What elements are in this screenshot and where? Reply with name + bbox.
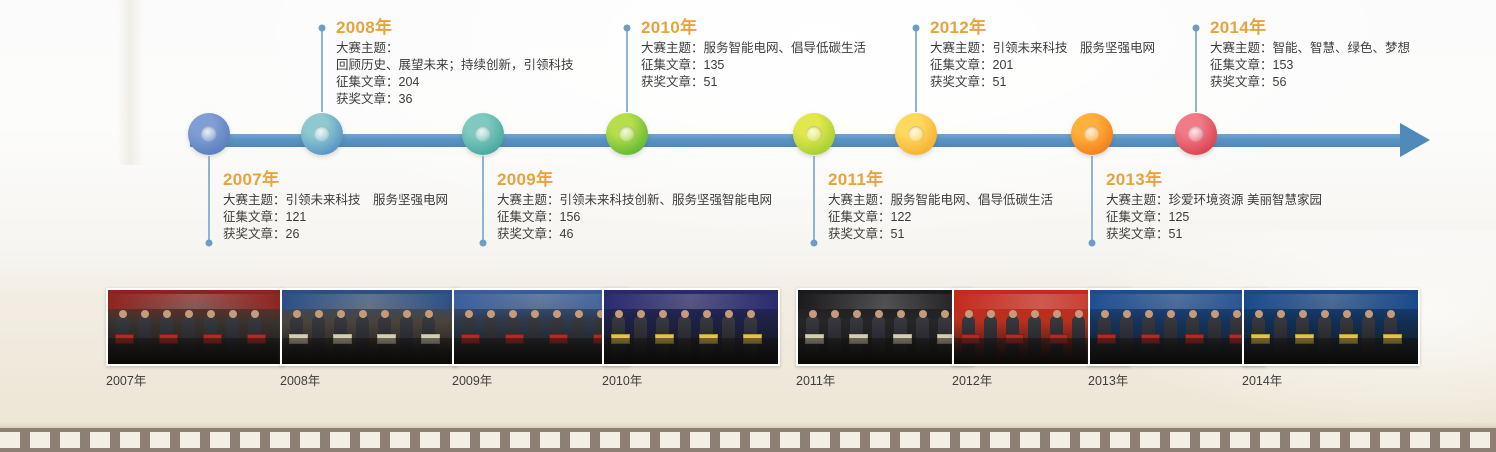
photo-banner <box>1090 294 1264 309</box>
gallery-item[interactable]: 2013年 <box>1088 288 1266 389</box>
timeline-connector-dot <box>811 240 818 247</box>
entry-year: 2009年 <box>497 170 772 190</box>
entry-year: 2010年 <box>641 18 866 38</box>
timeline-node-hole <box>619 126 635 142</box>
timeline-node-2009[interactable] <box>462 113 504 155</box>
photo-banner <box>108 294 282 309</box>
timeline-connector-line <box>1195 28 1197 112</box>
timeline-connector-dot <box>319 25 326 32</box>
photo-foreground <box>604 338 778 364</box>
entry-year: 2013年 <box>1106 170 1322 190</box>
timeline-node-2014[interactable] <box>1175 113 1217 155</box>
entry-submitted-label: 征集文章：125 <box>1106 209 1322 226</box>
entry-submitted-label: 征集文章：135 <box>641 57 866 74</box>
gallery-caption: 2013年 <box>1088 374 1266 389</box>
photo-banner <box>798 294 972 309</box>
infographic-canvas: 2007年大赛主题：引领未来科技 服务坚强电网征集文章：121获奖文章：2620… <box>0 0 1496 452</box>
timeline-node-hole <box>1188 126 1204 142</box>
entry-awarded-label: 获奖文章：56 <box>1210 74 1410 91</box>
entry-theme-label: 大赛主题：引领未来科技 服务坚强电网 <box>930 40 1155 57</box>
gallery-photo[interactable] <box>106 288 284 366</box>
timeline-entry-2013: 2013年大赛主题：珍爱环境资源 美丽智慧家园征集文章：125获奖文章：51 <box>1106 170 1322 243</box>
timeline-node-hole <box>908 126 924 142</box>
entry-submitted-label: 征集文章：201 <box>930 57 1155 74</box>
entry-theme-label-2: 回顾历史、展望未来；持续创新，引领科技 <box>336 57 574 74</box>
entry-theme-label: 大赛主题：珍爱环境资源 美丽智慧家园 <box>1106 192 1322 209</box>
entry-submitted-label: 征集文章：156 <box>497 209 772 226</box>
photo-foreground <box>798 338 972 364</box>
timeline-node-2007[interactable] <box>188 113 230 155</box>
entry-awarded-label: 获奖文章：36 <box>336 91 574 108</box>
gallery-item[interactable]: 2011年 <box>796 288 974 389</box>
timeline-connector-dot <box>206 240 213 247</box>
entry-awarded-label: 获奖文章：51 <box>828 226 1053 243</box>
entry-awarded-label: 获奖文章：46 <box>497 226 772 243</box>
timeline-connector-dot <box>624 25 631 32</box>
timeline-arrow-icon <box>1400 123 1430 157</box>
timeline-connector-line <box>321 28 323 112</box>
photo-banner <box>604 294 778 309</box>
timeline-entry-2007: 2007年大赛主题：引领未来科技 服务坚强电网征集文章：121获奖文章：26 <box>223 170 448 243</box>
gallery-caption: 2008年 <box>280 374 458 389</box>
timeline-node-2011[interactable] <box>793 113 835 155</box>
timeline-node-2008[interactable] <box>301 113 343 155</box>
gallery-caption: 2010年 <box>602 374 780 389</box>
timeline-entry-2014: 2014年大赛主题：智能、智慧、绿色、梦想征集文章：153获奖文章：56 <box>1210 18 1410 91</box>
timeline-node-hole <box>806 126 822 142</box>
gallery-item[interactable]: 2010年 <box>602 288 780 389</box>
timeline-connector-dot <box>1193 25 1200 32</box>
gallery-photo[interactable] <box>1242 288 1420 366</box>
entry-year: 2014年 <box>1210 18 1410 38</box>
photo-foreground <box>1244 338 1418 364</box>
entry-submitted-label: 征集文章：122 <box>828 209 1053 226</box>
timeline-node-2013[interactable] <box>1071 113 1113 155</box>
photo-foreground <box>282 338 456 364</box>
entry-submitted-label: 征集文章：153 <box>1210 57 1410 74</box>
timeline-node-2012[interactable] <box>895 113 937 155</box>
gallery-photo[interactable] <box>796 288 974 366</box>
timeline-connector-dot <box>1089 240 1096 247</box>
timeline-entry-2008: 2008年大赛主题：回顾历史、展望未来；持续创新，引领科技征集文章：204获奖文… <box>336 18 574 108</box>
timeline-node-hole <box>1084 126 1100 142</box>
timeline-connector-dot <box>913 25 920 32</box>
gallery-item[interactable]: 2014年 <box>1242 288 1420 389</box>
gallery-caption: 2014年 <box>1242 374 1420 389</box>
timeline-node-2010[interactable] <box>606 113 648 155</box>
entry-theme-label: 大赛主题：智能、智慧、绿色、梦想 <box>1210 40 1410 57</box>
gallery-item[interactable]: 2008年 <box>280 288 458 389</box>
gallery-photo[interactable] <box>280 288 458 366</box>
photo-banner <box>1244 294 1418 309</box>
gallery-item[interactable]: 2007年 <box>106 288 284 389</box>
entry-year: 2008年 <box>336 18 574 38</box>
timeline-entry-2009: 2009年大赛主题：引领未来科技创新、服务坚强智能电网征集文章：156获奖文章：… <box>497 170 772 243</box>
gallery-caption: 2011年 <box>796 374 974 389</box>
entry-theme-label: 大赛主题：引领未来科技 服务坚强电网 <box>223 192 448 209</box>
gallery-photo[interactable] <box>602 288 780 366</box>
entry-theme-label: 大赛主题：服务智能电网、倡导低碳生活 <box>641 40 866 57</box>
entry-submitted-label: 征集文章：204 <box>336 74 574 91</box>
photo-foreground <box>108 338 282 364</box>
timeline-connector-line <box>915 28 917 112</box>
timeline-connector-line <box>813 156 815 243</box>
entry-year: 2012年 <box>930 18 1155 38</box>
filmstrip-holes <box>0 432 1496 448</box>
timeline-connector-line <box>1091 156 1093 243</box>
timeline-connector-dot <box>480 240 487 247</box>
entry-year: 2007年 <box>223 170 448 190</box>
gallery-photo[interactable] <box>1088 288 1266 366</box>
timeline-connector-line <box>626 28 628 112</box>
entry-theme-label: 大赛主题：服务智能电网、倡导低碳生活 <box>828 192 1053 209</box>
entry-awarded-label: 获奖文章：51 <box>641 74 866 91</box>
entry-submitted-label: 征集文章：121 <box>223 209 448 226</box>
entry-awarded-label: 获奖文章：51 <box>1106 226 1322 243</box>
entry-theme-label: 大赛主题：引领未来科技创新、服务坚强智能电网 <box>497 192 772 209</box>
entry-year: 2011年 <box>828 170 1053 190</box>
filmstrip-decoration <box>0 428 1496 452</box>
entry-theme-label: 大赛主题： <box>336 40 574 57</box>
timeline-node-hole <box>314 126 330 142</box>
photo-banner <box>282 294 456 309</box>
timeline-entry-2011: 2011年大赛主题：服务智能电网、倡导低碳生活征集文章：122获奖文章：51 <box>828 170 1053 243</box>
gallery-caption: 2007年 <box>106 374 284 389</box>
timeline-node-hole <box>475 126 491 142</box>
photo-foreground <box>1090 338 1264 364</box>
photo-gallery: 2007年2008年2009年2010年2011年2012年2013年2014年 <box>0 288 1496 394</box>
entry-awarded-label: 获奖文章：26 <box>223 226 448 243</box>
timeline-node-hole <box>201 126 217 142</box>
timeline-entry-2010: 2010年大赛主题：服务智能电网、倡导低碳生活征集文章：135获奖文章：51 <box>641 18 866 91</box>
timeline-connector-line <box>208 156 210 243</box>
entry-awarded-label: 获奖文章：51 <box>930 74 1155 91</box>
timeline-connector-line <box>482 156 484 243</box>
timeline-entry-2012: 2012年大赛主题：引领未来科技 服务坚强电网征集文章：201获奖文章：51 <box>930 18 1155 91</box>
